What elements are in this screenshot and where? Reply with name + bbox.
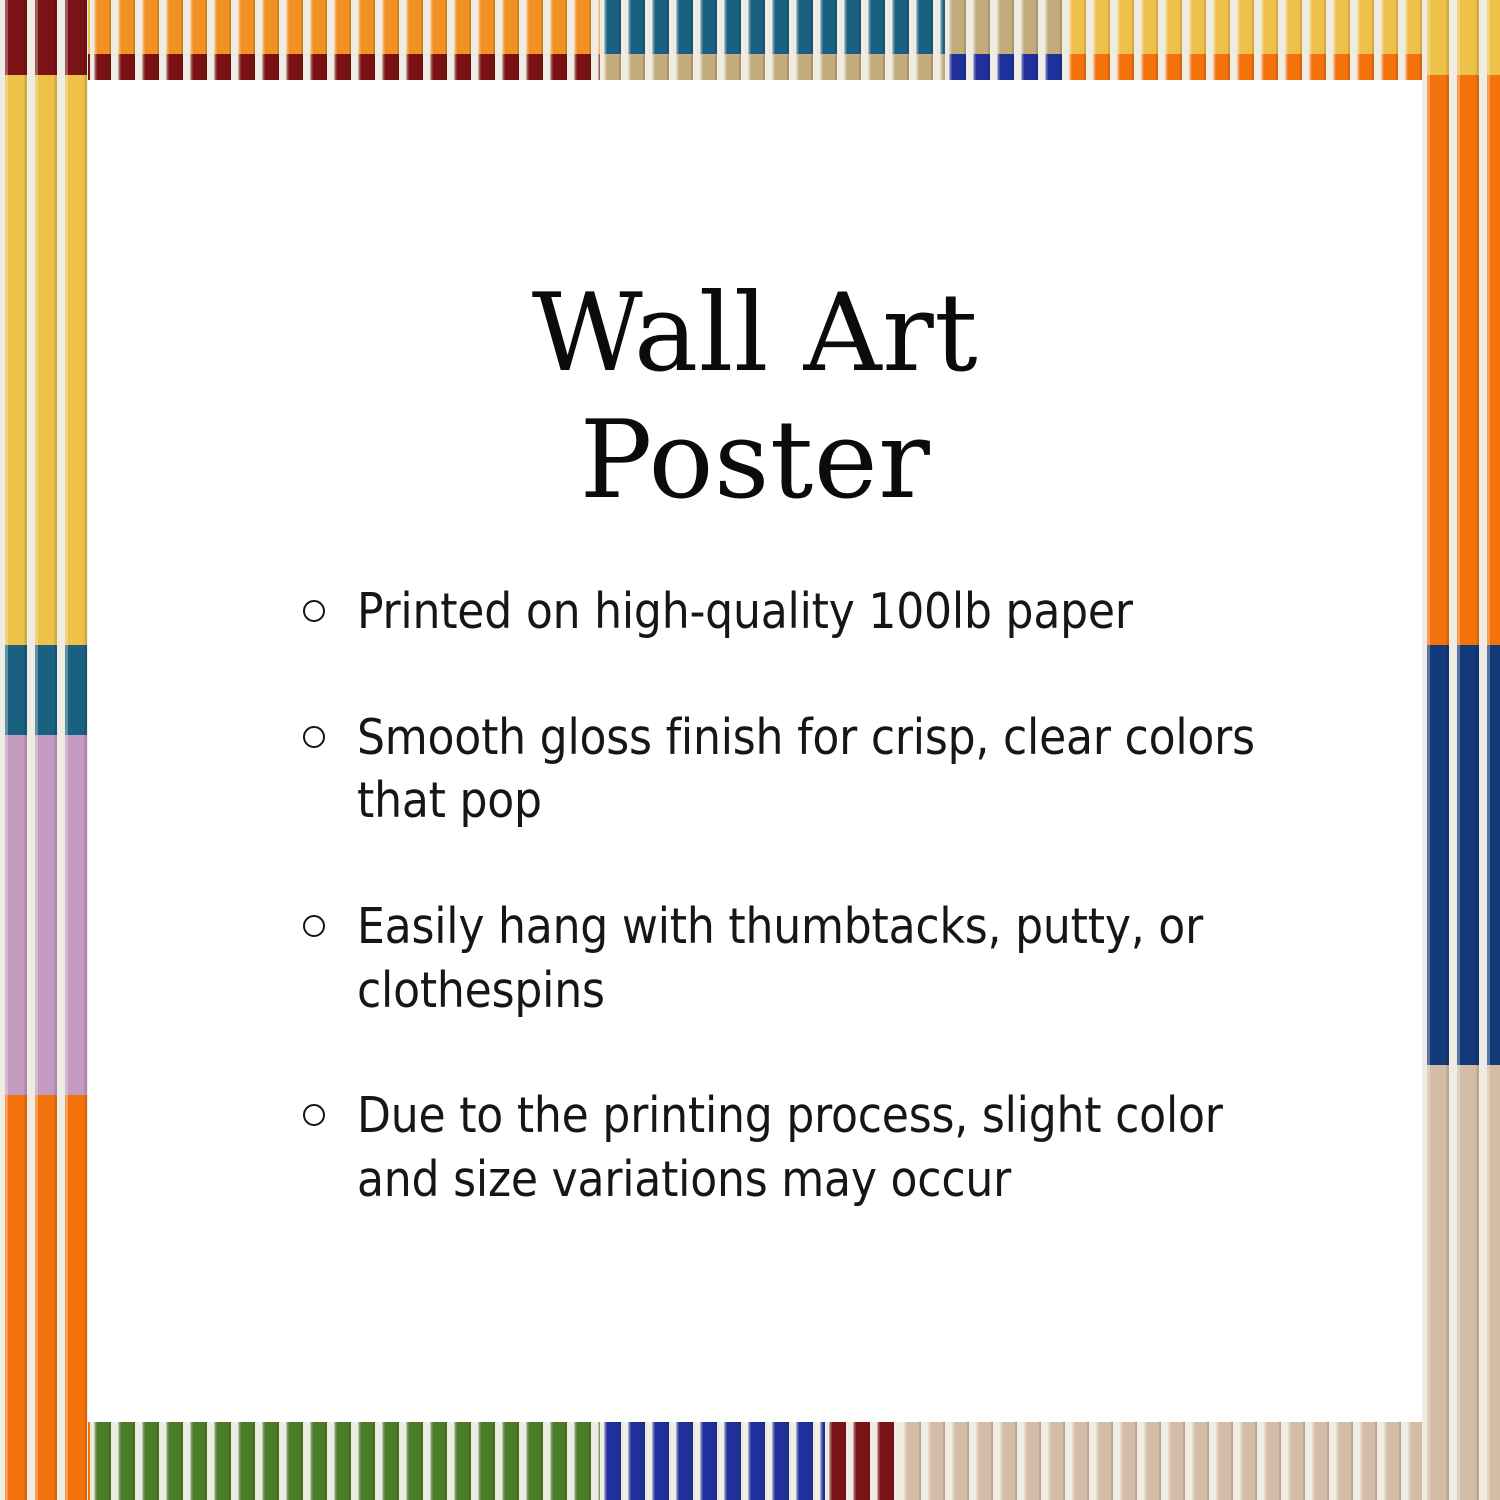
stripe-segment-mauve	[0, 735, 88, 1095]
stripe-texture	[1422, 0, 1500, 75]
frame-bottom-stripes	[0, 1422, 1500, 1500]
stripe-texture	[0, 735, 88, 1095]
list-item: Easily hang with thumbtacks, putty, or c…	[303, 895, 1272, 1022]
content-panel: Wall Art Poster Printed on high-quality …	[88, 80, 1422, 1422]
stripe-segment-green	[90, 1422, 600, 1500]
circle-outline-bullet-icon	[303, 915, 325, 937]
stripe-texture	[90, 1422, 600, 1500]
stripe-segment-beige	[900, 1422, 1500, 1500]
stripe-segment-orange-over-dark-red	[90, 0, 600, 80]
stripe-tip-teal-over-tan	[600, 54, 945, 80]
feature-text: Smooth gloss finish for crisp, clear col…	[357, 706, 1272, 833]
circle-outline-bullet-icon	[303, 726, 325, 748]
wall-art-poster-infographic: Wall Art Poster Printed on high-quality …	[0, 0, 1500, 1500]
stripe-tip-gold-over-orange	[1065, 54, 1440, 80]
title-line-1: Wall Art	[88, 270, 1422, 397]
circle-outline-bullet-icon	[303, 1104, 325, 1126]
stripe-segment-navy	[1422, 645, 1500, 1065]
feature-list: Printed on high-quality 100lb paper Smoo…	[303, 580, 1272, 1212]
stripe-segment-tan-over-royal-blue	[945, 0, 1065, 80]
left-stripe-column	[0, 0, 88, 1500]
stripe-texture	[1422, 75, 1500, 645]
frame-top-stripes	[0, 0, 1500, 80]
stripe-segment-teal	[0, 645, 88, 735]
stripe-segment-dark-red	[825, 1422, 900, 1500]
list-item: Printed on high-quality 100lb paper	[303, 580, 1272, 644]
frame-right-stripes	[1422, 0, 1500, 1500]
title-line-2: Poster	[88, 397, 1422, 524]
stripe-texture	[1422, 645, 1500, 1065]
right-stripe-column	[1422, 0, 1500, 1500]
stripe-tip-tan-over-royal-blue	[945, 54, 1065, 80]
page-title: Wall Art Poster	[88, 270, 1422, 525]
stripe-segment-bright-orange	[1422, 75, 1500, 645]
stripe-segment-gold	[0, 75, 88, 645]
stripe-texture	[825, 1422, 900, 1500]
stripe-tip-orange-over-dark-red	[90, 54, 600, 80]
stripe-segment-royal-blue	[600, 1422, 825, 1500]
stripe-texture	[0, 645, 88, 735]
top-stripe-row	[0, 0, 1500, 80]
stripe-texture	[600, 1422, 825, 1500]
stripe-segment-bright-orange	[0, 1095, 88, 1500]
feature-text: Due to the printing process, slight colo…	[357, 1084, 1272, 1211]
feature-text: Printed on high-quality 100lb paper	[357, 580, 1272, 644]
list-item: Smooth gloss finish for crisp, clear col…	[303, 706, 1272, 833]
frame-left-stripes	[0, 0, 88, 1500]
stripe-segment-gold	[1422, 0, 1500, 75]
stripe-segment-gold-over-orange	[1065, 0, 1440, 80]
stripe-texture	[0, 1095, 88, 1500]
stripe-segment-beige	[1422, 1065, 1500, 1500]
bottom-stripe-row	[0, 1422, 1500, 1500]
feature-text: Easily hang with thumbtacks, putty, or c…	[357, 895, 1272, 1022]
stripe-texture	[900, 1422, 1500, 1500]
stripe-texture	[0, 0, 88, 75]
stripe-segment-dark-red	[0, 0, 88, 75]
stripe-texture	[0, 75, 88, 645]
stripe-texture	[1422, 1065, 1500, 1500]
stripe-segment-teal-over-tan	[600, 0, 945, 80]
list-item: Due to the printing process, slight colo…	[303, 1084, 1272, 1211]
circle-outline-bullet-icon	[303, 600, 325, 622]
